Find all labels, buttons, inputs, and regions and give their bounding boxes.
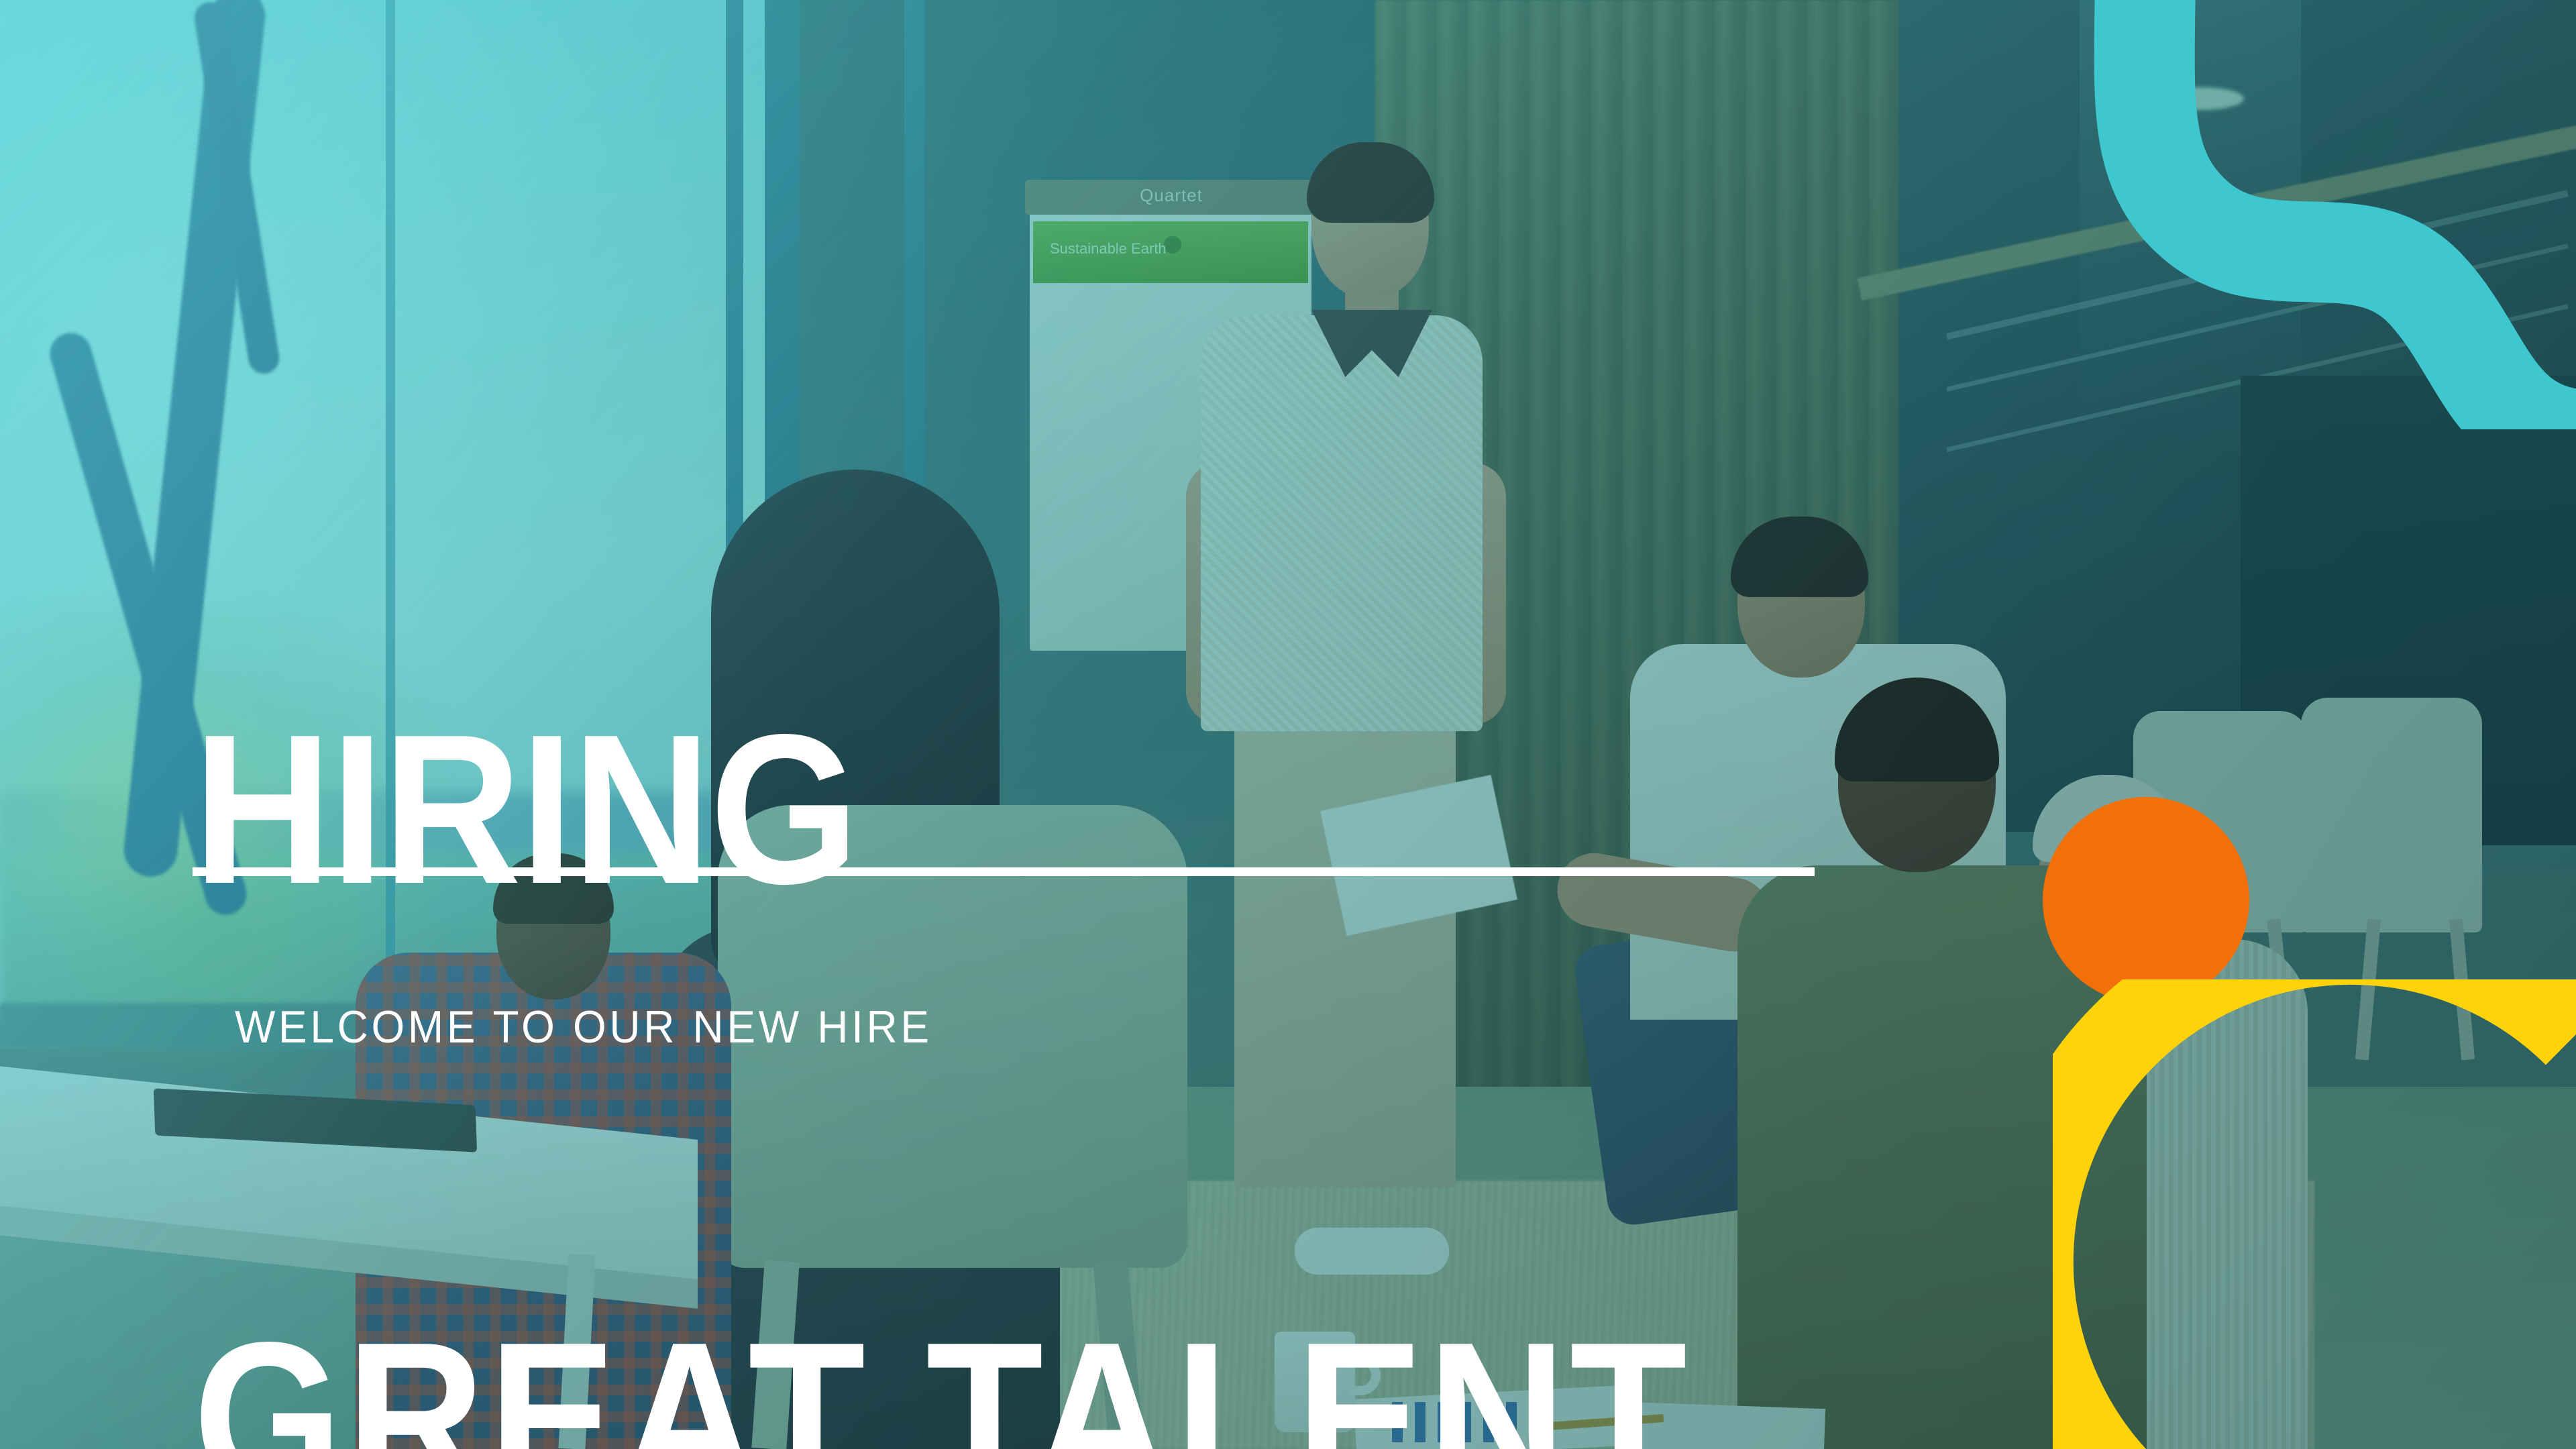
page-title: HIRING GREAT TALENT	[193, 303, 1690, 1449]
poster-subtitle: WELCOME TO OUR NEW HIRE	[235, 1001, 932, 1053]
hiring-poster: Sustainable Earth Quartet	[0, 0, 2576, 1449]
poster-text: HIRING GREAT TALENT WELCOME TO OUR NEW H…	[0, 0, 2576, 1449]
headline-line-2: GREAT TALENT	[193, 1316, 1690, 1449]
white-divider-rule	[193, 867, 1815, 876]
headline-line-1: HIRING	[193, 708, 1690, 911]
